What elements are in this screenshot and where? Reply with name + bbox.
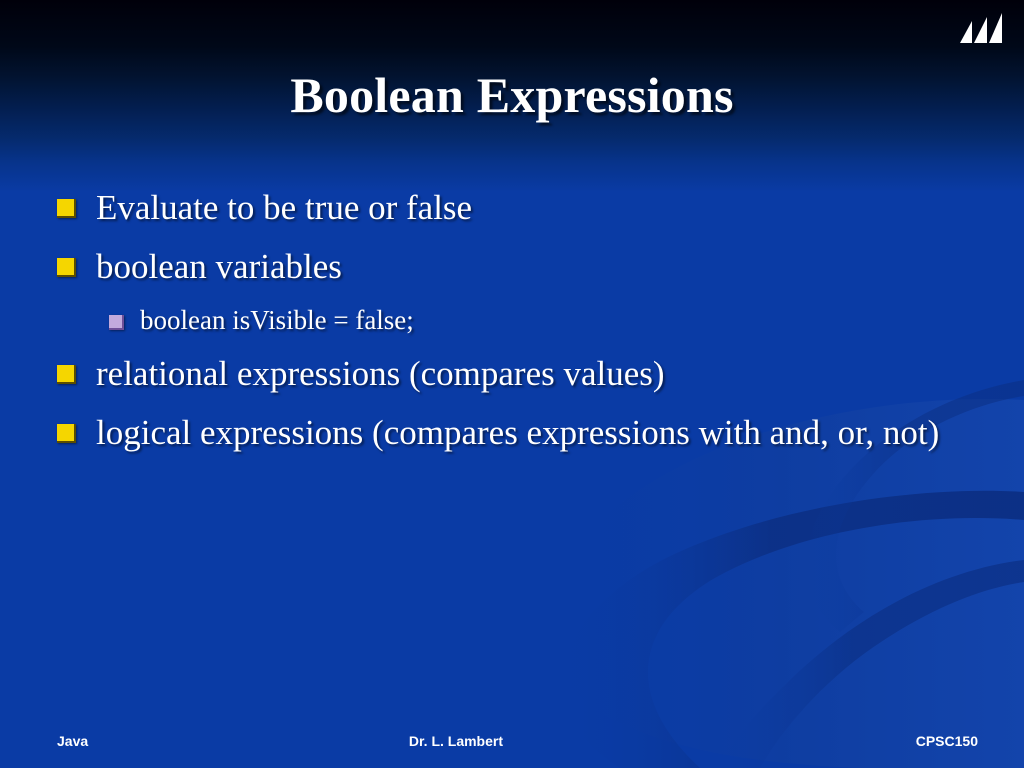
slide-title: Boolean Expressions	[0, 66, 1024, 124]
bullet-item: logical expressions (compares expression…	[57, 411, 972, 456]
footer-center-label: Dr. L. Lambert	[88, 733, 916, 749]
slide-footer: Java Dr. L. Lambert CPSC150	[57, 732, 978, 750]
purple-square-bullet-icon	[109, 315, 124, 330]
yellow-square-bullet-icon	[57, 258, 76, 277]
bullet-item: boolean variables	[57, 245, 972, 290]
yellow-square-bullet-icon	[57, 365, 76, 384]
footer-left-label: Java	[57, 733, 88, 749]
yellow-square-bullet-icon	[57, 424, 76, 443]
three-slanted-bars-logo-icon	[956, 13, 1006, 45]
bullet-text: relational expressions (compares values)	[96, 352, 665, 397]
bullet-text: Evaluate to be true or false	[96, 186, 472, 231]
footer-right-label: CPSC150	[916, 733, 978, 749]
sub-bullet-item: boolean isVisible = false;	[109, 304, 972, 336]
bullet-text: logical expressions (compares expression…	[96, 411, 939, 456]
bullet-text: boolean variables	[96, 245, 342, 290]
sub-bullet-text: boolean isVisible = false;	[140, 304, 414, 336]
slide-body: Evaluate to be true or false boolean var…	[57, 186, 972, 470]
yellow-square-bullet-icon	[57, 199, 76, 218]
bullet-item: relational expressions (compares values)	[57, 352, 972, 397]
bullet-item: Evaluate to be true or false	[57, 186, 972, 231]
presentation-slide: Boolean Expressions Evaluate to be true …	[0, 0, 1024, 768]
